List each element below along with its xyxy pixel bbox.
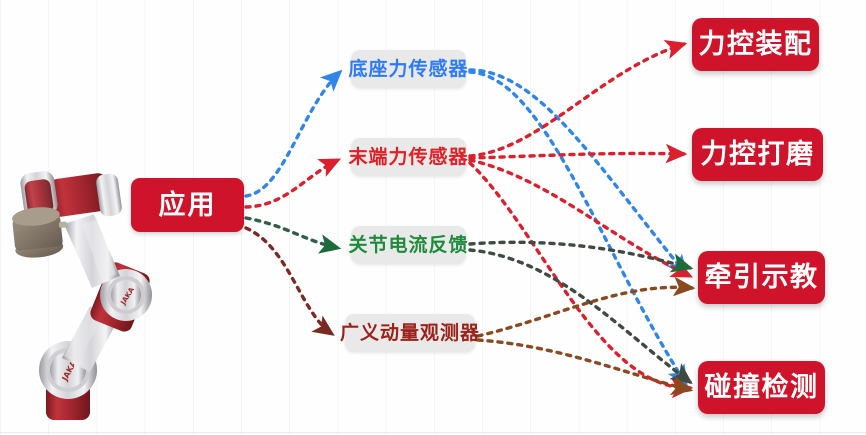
edge-app-to-momentum-observer <box>246 228 332 334</box>
node-application[interactable]: 应用 <box>131 178 244 232</box>
edge-app-to-base-sensor <box>246 72 340 196</box>
node-end-force-sensor-label: 末端力传感器 <box>349 148 469 167</box>
node-application-label: 应用 <box>159 192 217 219</box>
node-base-force-sensor[interactable]: 底座力传感器 <box>351 50 466 88</box>
edge-end-sensor-to-drag-teach <box>470 160 690 276</box>
edge-base-sensor-to-collision <box>470 72 686 384</box>
edge-end-sensor-to-force-grinding <box>470 153 684 158</box>
edge-end-sensor-to-collision <box>470 163 690 388</box>
node-momentum-observer[interactable]: 广义动量观测器 <box>345 314 475 352</box>
node-force-control-assembly-label: 力控装配 <box>699 31 813 58</box>
node-joint-current-feedback-label: 关节电流反馈 <box>349 236 469 255</box>
node-force-control-assembly[interactable]: 力控装配 <box>692 18 819 71</box>
node-collision-detection-label: 碰撞检测 <box>705 374 819 401</box>
node-force-control-grinding[interactable]: 力控打磨 <box>692 128 823 181</box>
diagram-canvas: JAKA JAKA <box>0 0 866 435</box>
node-joint-current-feedback[interactable]: 关节电流反馈 <box>351 226 466 264</box>
edge-app-to-end-sensor <box>246 160 338 207</box>
edge-current-feedback-to-collision <box>470 250 690 382</box>
node-force-control-grinding-label: 力控打磨 <box>701 141 815 168</box>
edge-momentum-observer-to-drag-teach <box>478 287 692 336</box>
node-collision-detection[interactable]: 碰撞检测 <box>698 361 825 414</box>
node-momentum-observer-label: 广义动量观测器 <box>340 324 480 343</box>
edge-app-to-current-feedback <box>246 218 338 248</box>
node-drag-teaching[interactable]: 牵引示教 <box>698 251 825 304</box>
node-end-force-sensor[interactable]: 末端力传感器 <box>351 138 466 176</box>
node-base-force-sensor-label: 底座力传感器 <box>349 60 469 79</box>
node-drag-teaching-label: 牵引示教 <box>705 264 819 291</box>
